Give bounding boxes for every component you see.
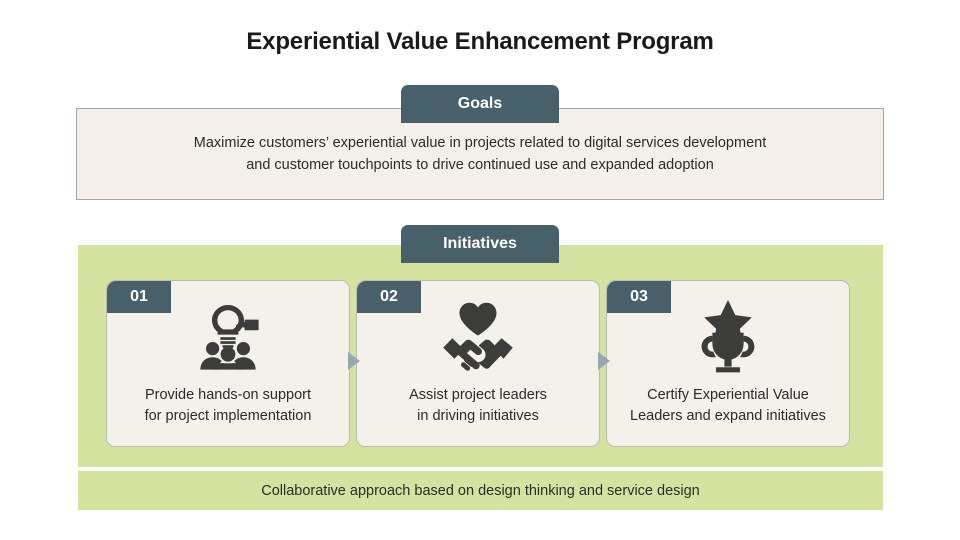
initiative-card-1-line-1: Provide hands-on support xyxy=(117,385,339,407)
initiative-card-2-line-1: Assist project leaders xyxy=(367,385,589,407)
arrow-right-icon xyxy=(598,352,610,370)
initiative-card-3-line-1: Certify Experiential Value xyxy=(617,385,839,407)
goals-body-line-2: and customer touchpoints to drive contin… xyxy=(194,154,766,176)
initiative-card-2-text: Assist project leaders in driving initia… xyxy=(357,385,599,429)
initiatives-tab-label: Initiatives xyxy=(443,235,517,253)
goals-tab-label: Goals xyxy=(458,95,502,113)
lightbulb-people-icon xyxy=(107,293,349,379)
goals-body-text: Maximize customers’ experiential value i… xyxy=(154,132,806,177)
slide-canvas: Experiential Value Enhancement Program G… xyxy=(0,0,960,540)
initiative-card-3[interactable]: 03 xyxy=(606,280,850,447)
goals-body-line-1: Maximize customers’ experiential value i… xyxy=(194,132,766,154)
initiative-card-3-line-2: Leaders and expand initiatives xyxy=(617,406,839,428)
initiative-card-3-text: Certify Experiential Value Leaders and e… xyxy=(607,385,849,429)
footer-banner-text: Collaborative approach based on design t… xyxy=(261,483,700,499)
initiatives-cards-row: 01 xyxy=(106,280,850,447)
initiative-card-1-text: Provide hands-on support for project imp… xyxy=(107,385,349,429)
initiatives-section-tab: Initiatives xyxy=(401,225,559,263)
initiative-card-1[interactable]: 01 xyxy=(106,280,350,447)
handshake-heart-icon xyxy=(357,293,599,379)
arrow-right-icon xyxy=(348,352,360,370)
initiative-card-2[interactable]: 02 xyxy=(356,280,600,447)
goals-section-tab: Goals xyxy=(401,85,559,123)
initiative-card-1-line-2: for project implementation xyxy=(117,406,339,428)
initiative-card-2-line-2: in driving initiatives xyxy=(367,406,589,428)
page-title: Experiential Value Enhancement Program xyxy=(0,28,960,56)
footer-banner: Collaborative approach based on design t… xyxy=(78,471,883,510)
trophy-star-icon xyxy=(607,293,849,379)
